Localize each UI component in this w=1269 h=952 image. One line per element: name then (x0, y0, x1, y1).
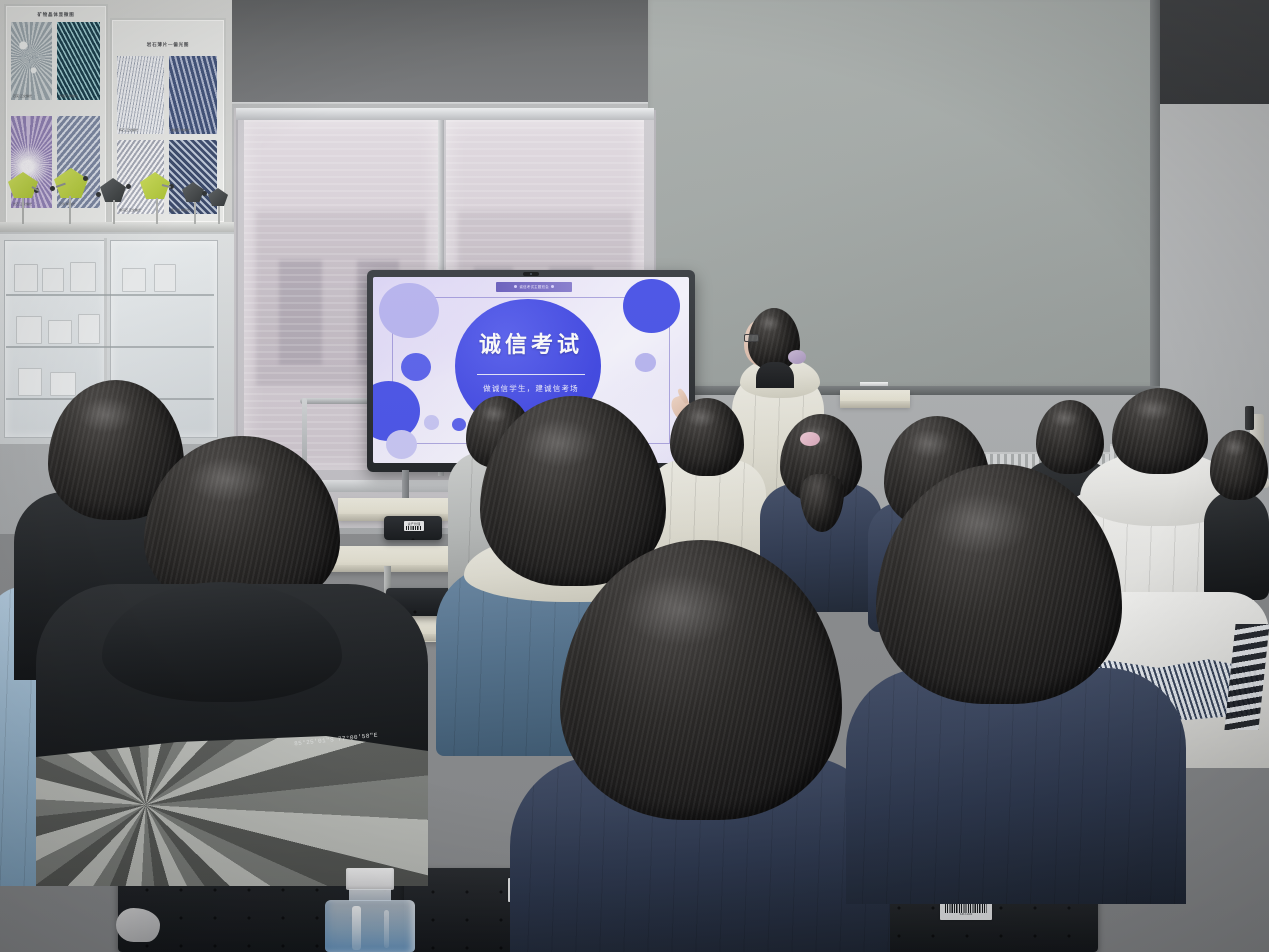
bottle-body (325, 900, 415, 952)
slide-banner-dot-icon (551, 285, 554, 288)
poster-tile: 辉石 正交偏光 (117, 56, 164, 134)
presenter-inner-top (756, 362, 794, 388)
crystal-model-1 (6, 172, 40, 224)
bottle-highlight (384, 910, 389, 948)
hand-on-desk (116, 908, 160, 942)
student-camo-jacket-left: 85°25'01"S 77°00'58"E (36, 436, 428, 896)
slide-circle-blue (623, 279, 680, 333)
poster-right-title: 岩石薄片—偏光图 (112, 42, 224, 48)
display-camera (523, 272, 539, 276)
student-navy-right-of-centre (846, 464, 1186, 904)
bottle-cap (346, 868, 394, 890)
poster-tile-caption: 石英 正交偏光 (13, 95, 32, 99)
bottle-highlight (352, 906, 361, 950)
cabinet-specimen (42, 268, 64, 292)
slide-title: 诚信考试 (373, 327, 689, 359)
crystal-model-2 (50, 166, 90, 224)
poster-tile: 方解石 单偏光 (57, 22, 100, 100)
cabinet-shelf (6, 294, 214, 296)
student-hair (876, 464, 1122, 704)
hair-scrunchie (800, 432, 820, 446)
student-navy-foreground-centre (510, 540, 890, 952)
presenter-hair-tie (788, 350, 806, 364)
cabinet-specimen (48, 320, 72, 344)
presenter-glasses (744, 334, 759, 342)
poster-tile-caption: 橄榄石 单偏光 (171, 129, 190, 133)
slide-banner-dot-icon (514, 285, 517, 288)
cabinet-specimen (154, 264, 176, 292)
crystal-model-4 (138, 172, 176, 224)
window-head-trim (236, 108, 654, 120)
cabinet-specimen (122, 268, 146, 292)
student-hair (560, 540, 842, 820)
cabinet-specimen (16, 316, 42, 344)
cabinet-shelf (6, 346, 214, 348)
slide-title-underline (477, 374, 584, 375)
cabinet-specimen (14, 264, 38, 292)
cabinet-specimen (78, 314, 100, 344)
student-hair (1112, 388, 1208, 474)
slide-banner-text: 诚信考试主题班会 (519, 284, 549, 289)
slide-subtitle: 做诚信学生，建诚信考场 (373, 383, 689, 394)
asset-label-barcode (945, 904, 988, 913)
crystal-model-3 (96, 178, 132, 224)
water-bottle[interactable] (322, 868, 418, 952)
poster-tile: 石英 正交偏光 (11, 22, 52, 100)
poster-tile-caption: 辉石 正交偏光 (119, 129, 138, 133)
poster-tile: 橄榄石 单偏光 (169, 56, 217, 134)
poster-tile-caption: 方解石 单偏光 (59, 95, 78, 99)
student-hair (1210, 430, 1268, 500)
jacket-camo-band (36, 736, 428, 886)
classroom-photo: 矿物晶体显微图 石英 正交偏光 方解石 单偏光 长石 正交偏光 云母 单偏光 岩… (0, 0, 1269, 952)
asset-label-code: SJKJ-1021 (960, 913, 973, 916)
crystal-model-6 (206, 188, 232, 224)
lab-table-right (840, 390, 910, 406)
cabinet-specimen (70, 262, 96, 292)
poster-left-title: 矿物晶体显微图 (6, 12, 106, 18)
projection-screen-edge (1150, 0, 1160, 392)
ceiling-light-strip (860, 382, 888, 386)
slide-top-banner: 诚信考试主题班会 (496, 282, 572, 292)
